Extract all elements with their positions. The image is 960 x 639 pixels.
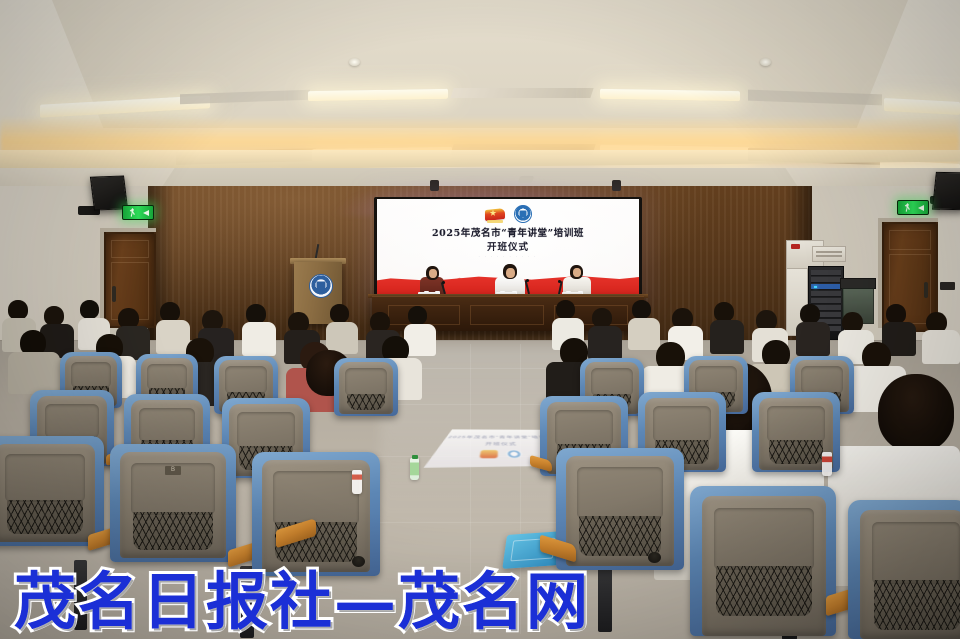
wall-ac-unit — [812, 246, 846, 262]
auditorium-photo: 2025年茂名市“青年讲堂”培训班 开班仪式 · · · · · · · · ·… — [0, 0, 960, 639]
table-microphone-head — [442, 281, 445, 284]
screen-title-line1: 2025年茂名市“青年讲堂”培训班 — [377, 225, 639, 239]
maoming-circular-logo-icon — [514, 205, 532, 223]
screen-subtitle: · · · · · · · · · · — [377, 255, 639, 259]
spill-badge-icon — [479, 450, 497, 458]
wall-socket — [940, 282, 955, 290]
water-bottle-cap — [412, 455, 418, 459]
watermark: 茂名日报社—茂名网 — [14, 571, 590, 633]
water-bottle — [352, 470, 362, 494]
screen-emblems — [377, 203, 639, 225]
podium-emblem-icon — [309, 274, 333, 298]
ceiling-speaker — [430, 180, 439, 191]
seat-row-label: B — [165, 466, 181, 475]
ceiling-projector-vent — [450, 88, 593, 98]
exit-sign-left — [122, 205, 154, 220]
communist-youth-league-badge-icon — [485, 206, 505, 223]
water-bottle — [410, 458, 419, 480]
table-microphone-head — [558, 280, 561, 283]
smoke-detector — [349, 58, 360, 66]
screen-title-line2: 开班仪式 — [377, 239, 639, 253]
exit-sign-right — [897, 200, 929, 215]
spill-logo-icon — [506, 450, 522, 458]
ceiling-vent-small — [518, 176, 535, 183]
right-wall-speaker — [932, 172, 960, 210]
water-bottle — [822, 452, 832, 476]
table-microphone-head — [526, 279, 529, 282]
smoke-detector — [760, 58, 771, 66]
ceiling-speaker — [612, 180, 621, 191]
